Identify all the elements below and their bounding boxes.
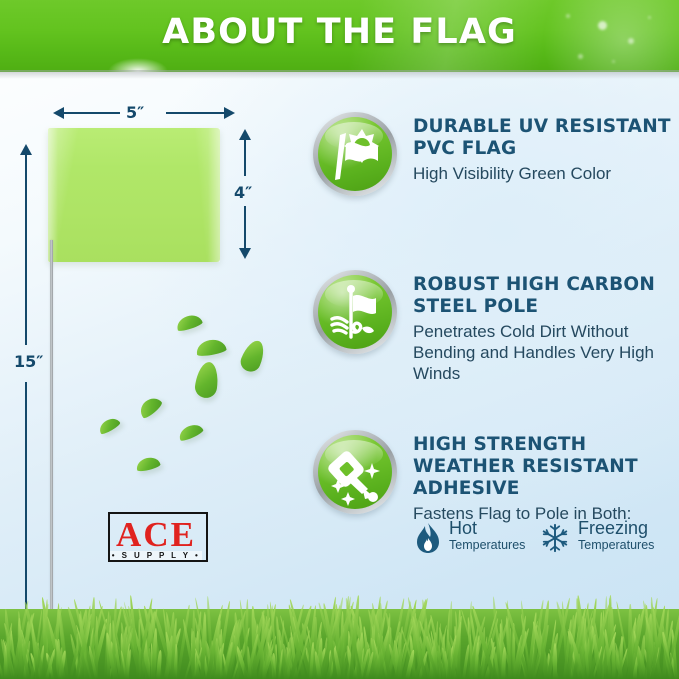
temperature-hot-label: Temperatures xyxy=(449,538,525,552)
glue-bottle-icon xyxy=(318,435,392,509)
feature-subtitle: Penetrates Cold Dirt Without Bending and… xyxy=(413,321,679,384)
feature-subtitle: High Visibility Green Color xyxy=(413,163,679,184)
grass-blade xyxy=(612,637,615,679)
banner-base-shadow xyxy=(0,70,679,79)
temperature-range-row: Hot Temperatures xyxy=(415,520,679,566)
leaf-decoration xyxy=(97,415,122,436)
bokeh-dot xyxy=(612,60,615,63)
grass-blade xyxy=(442,634,445,679)
pole-dimension-line xyxy=(25,382,27,617)
feature-badge xyxy=(313,270,397,354)
leaf-decoration xyxy=(177,421,205,442)
feature-title: HIGH STRENGTH WEATHER RESISTANT ADHESIVE xyxy=(413,434,679,500)
flame-icon xyxy=(415,522,441,554)
logo-tagline: • S U P P L Y • xyxy=(108,551,204,560)
arrow-up-icon xyxy=(20,144,32,155)
height-dimension-line xyxy=(244,206,246,248)
leaf-decoration xyxy=(194,361,221,400)
temperature-freezing-name: Freezing xyxy=(578,519,654,538)
grass-strip xyxy=(0,583,679,679)
logo-tagline-text: • S U P P L Y • xyxy=(110,551,202,560)
feature-text: DURABLE UV RESISTANT PVC FLAG High Visib… xyxy=(413,116,679,184)
temperature-freezing-text: Freezing Temperatures xyxy=(578,519,654,552)
arrow-right-icon xyxy=(224,107,235,119)
arrow-up-icon xyxy=(239,129,251,140)
feature-badge xyxy=(313,112,397,196)
flag-product-image xyxy=(48,128,220,262)
feature-title: ROBUST HIGH CARBON STEEL POLE xyxy=(413,274,679,318)
flag-pole-image xyxy=(50,240,53,625)
grass-blade xyxy=(553,643,557,679)
temperature-hot-name: Hot xyxy=(449,519,525,538)
width-dimension-line xyxy=(64,112,120,114)
leaf-decoration xyxy=(175,312,204,332)
pole-dimension-line xyxy=(25,155,27,345)
leaf-decoration xyxy=(136,394,163,420)
flag-sun-icon xyxy=(318,117,392,191)
header-banner: ABOUT THE FLAG xyxy=(0,0,679,72)
flag-highlight-right xyxy=(208,128,220,262)
temperature-hot-text: Hot Temperatures xyxy=(449,519,525,552)
feature-text: HIGH STRENGTH WEATHER RESISTANT ADHESIVE… xyxy=(413,434,679,524)
snowflake-icon xyxy=(540,522,570,554)
leaf-decoration xyxy=(135,455,161,472)
feature-title: DURABLE UV RESISTANT PVC FLAG xyxy=(413,116,679,160)
height-dimension-line xyxy=(244,140,246,176)
leaf-decoration xyxy=(195,338,227,358)
feature-text: ROBUST HIGH CARBON STEEL POLE Penetrates… xyxy=(413,274,679,384)
pole-dimension-label: 15″ xyxy=(14,352,43,371)
brand-logo: ACE • S U P P L Y • xyxy=(108,512,204,574)
logo-name: ACE xyxy=(108,514,204,556)
temperature-freezing-label: Temperatures xyxy=(578,538,654,552)
height-dimension-label: 4″ xyxy=(234,183,252,202)
arrow-left-icon xyxy=(53,107,64,119)
width-dimension-label: 5″ xyxy=(126,103,144,122)
arrow-down-icon xyxy=(239,248,251,259)
flagpole-wind-icon xyxy=(318,275,392,349)
page-title: ABOUT THE FLAG xyxy=(0,12,679,52)
width-dimension-line xyxy=(166,112,224,114)
infographic-canvas: ABOUT THE FLAG 5″ 4″ 15″ ACE • S U P P L… xyxy=(0,0,679,679)
feature-badge xyxy=(313,430,397,514)
bokeh-dot xyxy=(578,54,583,59)
leaf-decoration xyxy=(238,337,269,374)
